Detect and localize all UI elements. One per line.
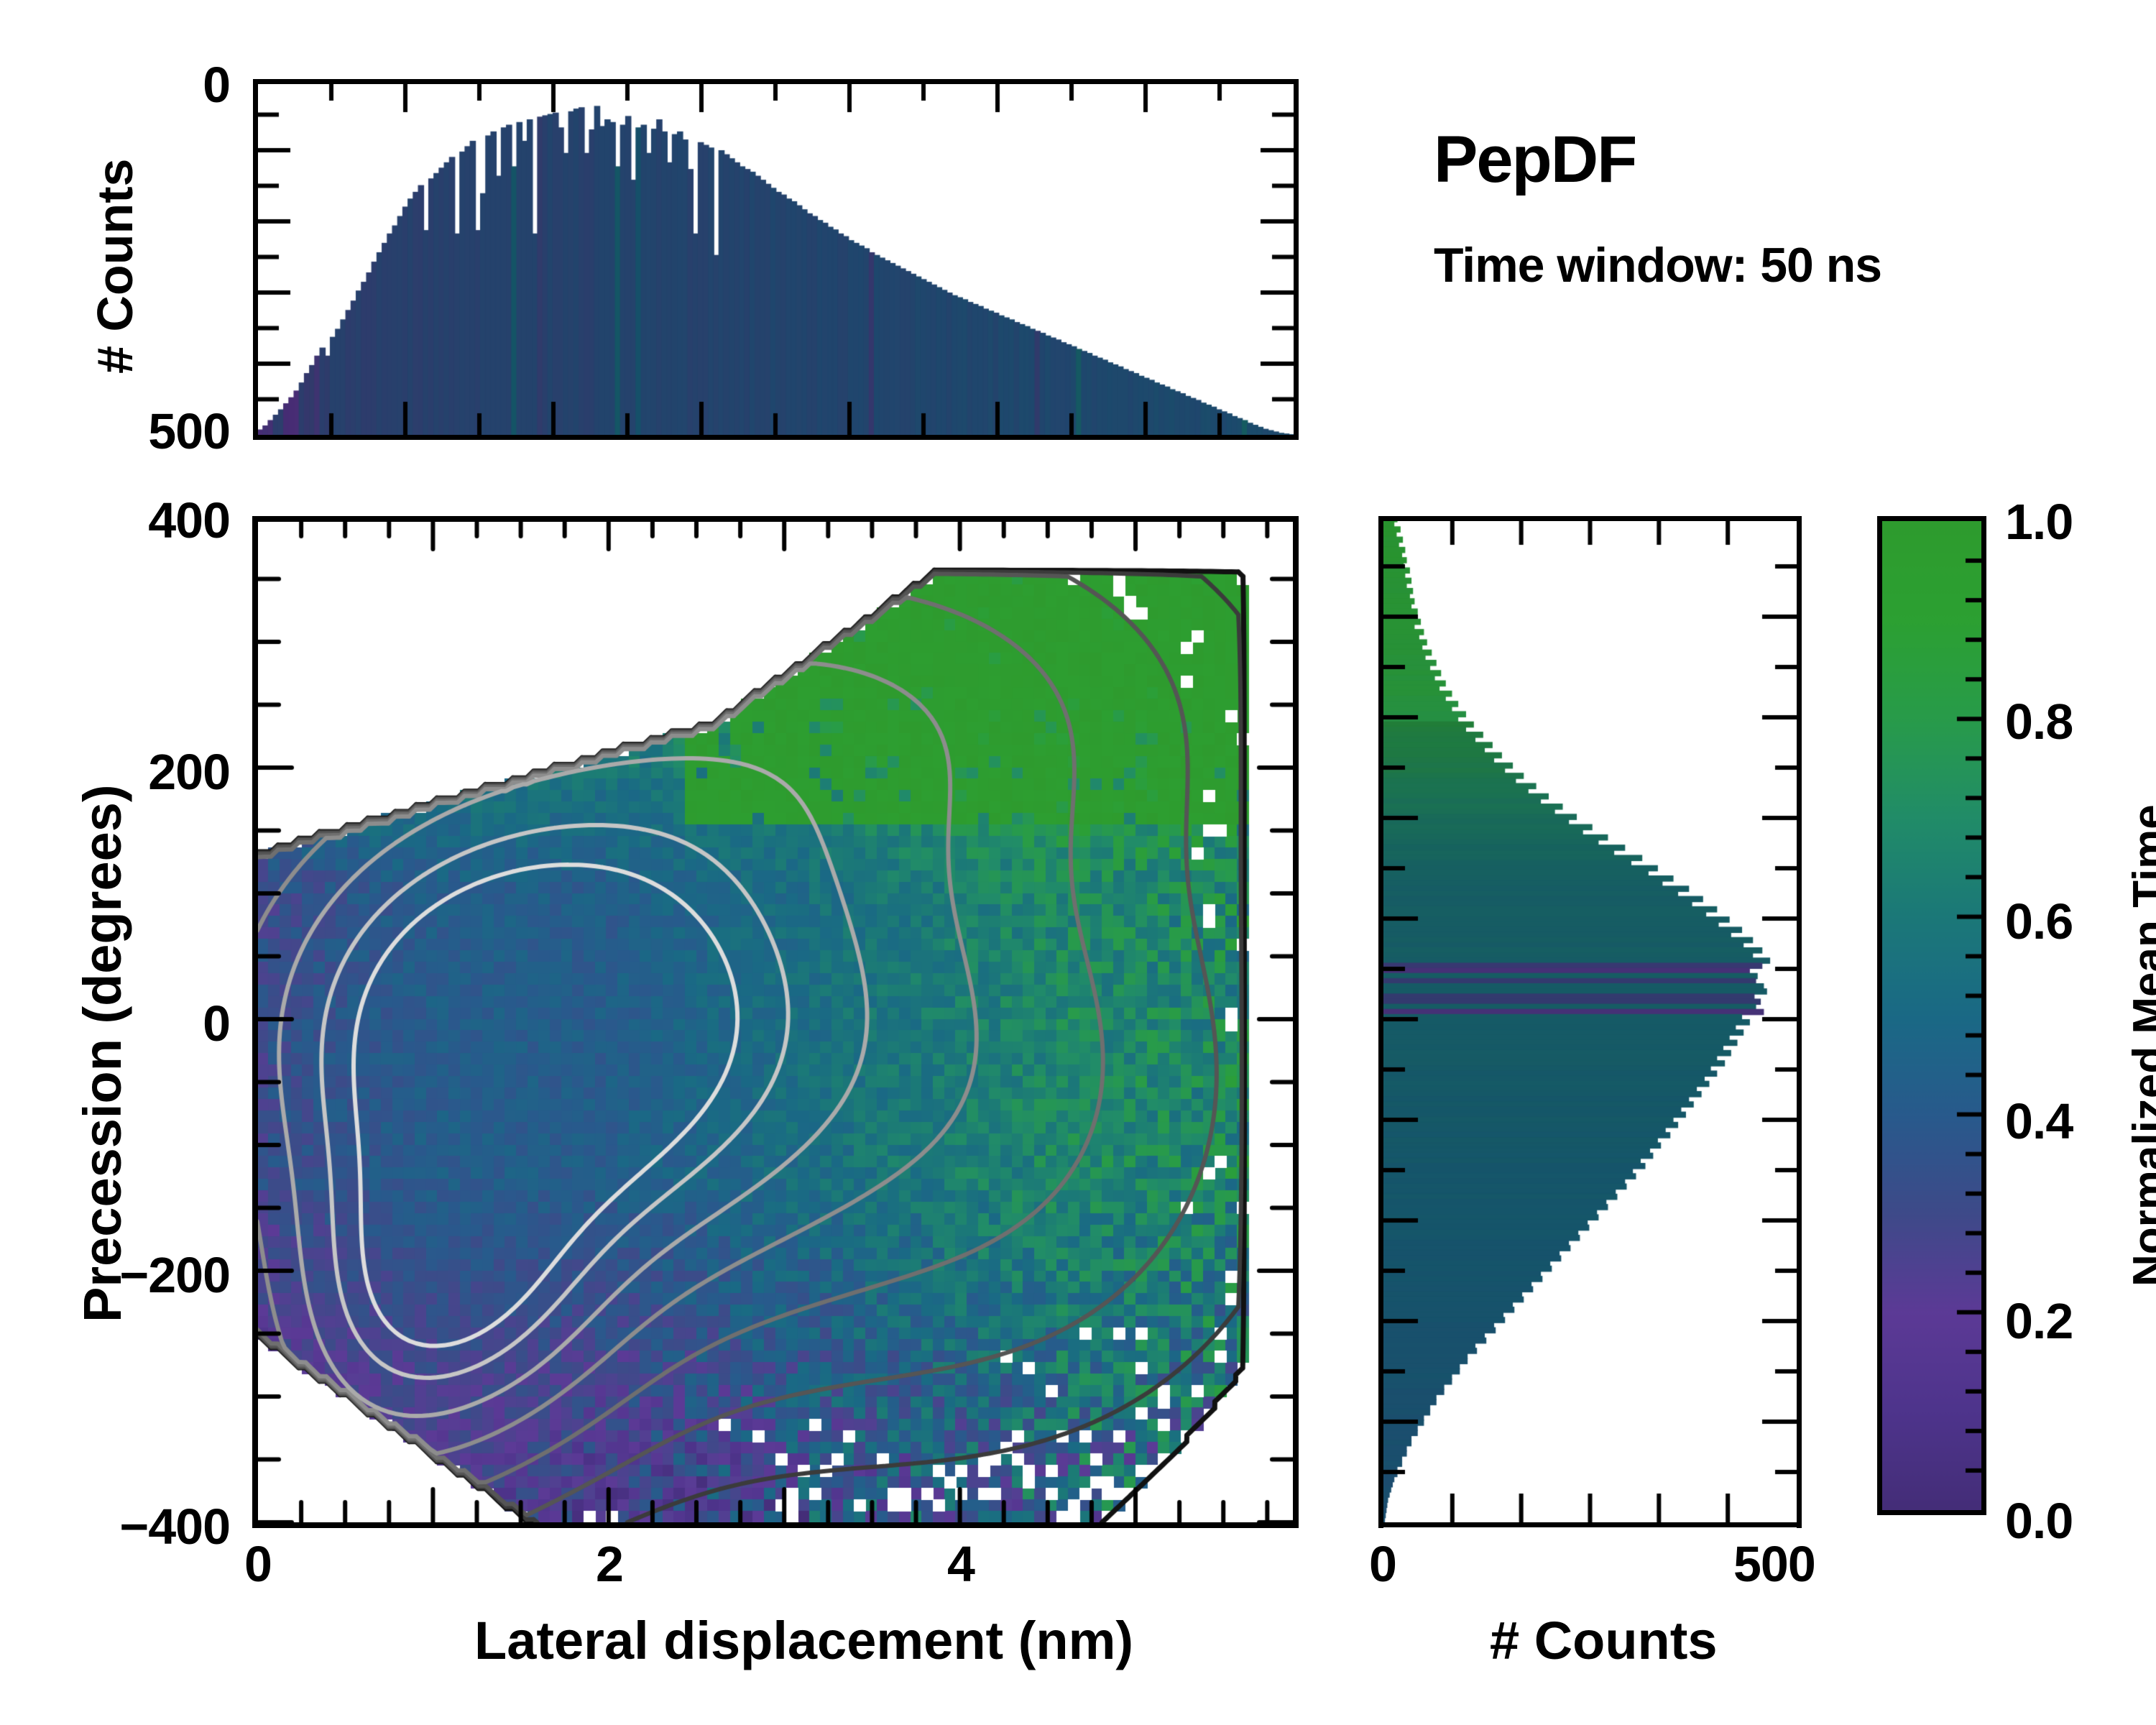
right-hist-spine-right [1797, 516, 1802, 1528]
top-hist-spine-right [1294, 79, 1299, 440]
top-histogram-panel [257, 79, 1294, 435]
colorbar-tick-0p2: 0.2 [2005, 1292, 2073, 1350]
right-hist-spine-top [1378, 516, 1802, 521]
colorbar-label: Normalized Mean Time [2124, 804, 2156, 1287]
top-histogram-canvas [257, 79, 1294, 435]
right-hist-xtick-0: 0 [1369, 1535, 1396, 1593]
right-hist-xlabel: # Counts [1490, 1610, 1718, 1671]
main-joint-plot-panel [257, 516, 1294, 1522]
main-spine-bottom [252, 1522, 1299, 1528]
main-xlabel: Lateral displacement (nm) [474, 1610, 1133, 1671]
top-hist-ylabel: # Counts [86, 159, 144, 374]
colorbar-tick-0p4: 0.4 [2005, 1092, 2073, 1150]
main-ytick-neg200: −200 [119, 1246, 230, 1304]
main-ytick-neg400: −400 [119, 1498, 230, 1555]
colorbar-tick-1p0: 1.0 [2005, 493, 2073, 551]
colorbar-canvas [1882, 521, 1981, 1510]
main-xtick-2: 2 [596, 1535, 623, 1593]
right-hist-xtick-500: 500 [1733, 1535, 1815, 1593]
top-hist-spine-top [253, 79, 1299, 84]
main-spine-top [252, 516, 1299, 522]
main-xtick-4: 4 [947, 1535, 975, 1593]
figure-subtitle: Time window: 50 ns [1434, 237, 1881, 293]
main-ytick-400: 400 [148, 492, 230, 549]
joint-histogram-canvas [257, 516, 1294, 1522]
main-xtick-0: 0 [244, 1535, 272, 1593]
top-hist-spine-left [253, 79, 258, 440]
figure-title: PepDF [1434, 122, 1636, 198]
colorbar-tick-0p6: 0.6 [2005, 893, 2073, 950]
colorbar-tick-0p8: 0.8 [2005, 693, 2073, 750]
right-histogram-canvas [1383, 516, 1797, 1522]
main-spine-right [1293, 516, 1299, 1528]
top-hist-spine-bottom [253, 435, 1299, 440]
main-ylabel: Precession (degrees) [72, 784, 133, 1322]
main-spine-left [252, 516, 258, 1528]
right-histogram-panel [1383, 516, 1797, 1522]
main-ytick-200: 200 [148, 743, 230, 801]
main-ytick-0: 0 [203, 995, 230, 1052]
right-hist-spine-bottom [1378, 1522, 1802, 1527]
colorbar-tick-0p0: 0.0 [2005, 1492, 2073, 1550]
top-hist-ytick-0: 500 [148, 402, 230, 460]
right-hist-spine-left [1378, 516, 1383, 1528]
top-hist-ytick-500: 0 [203, 56, 230, 114]
